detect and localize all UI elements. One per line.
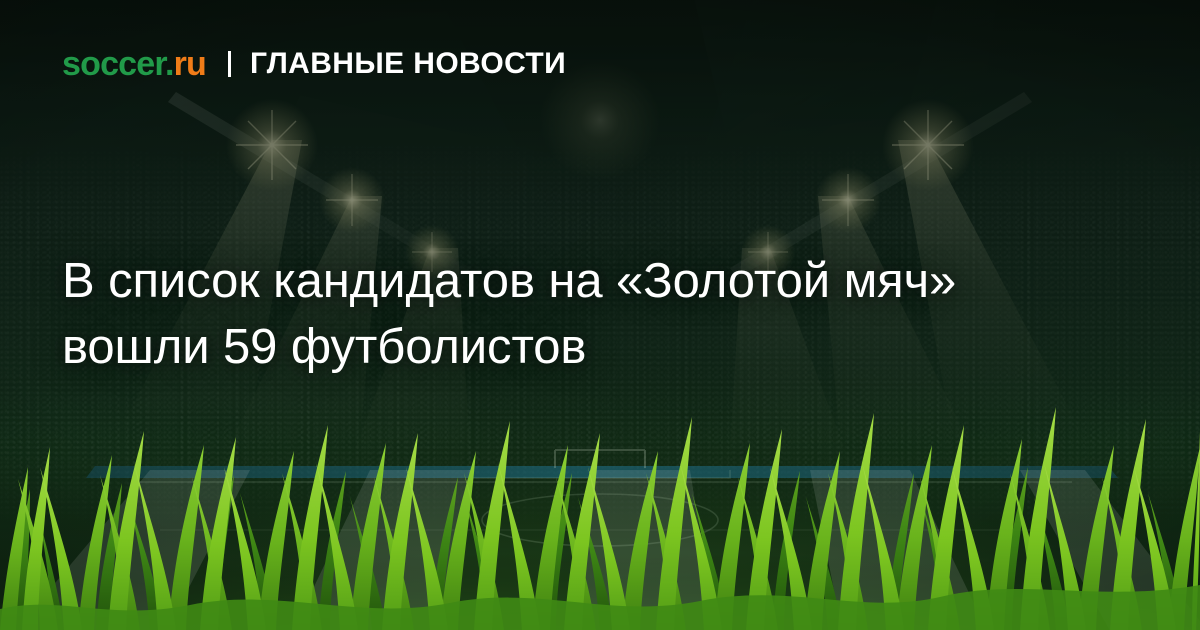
logo-text-tld: ru (174, 45, 206, 83)
page-title: В список кандидатов на «Золотой мяч» вош… (62, 248, 1072, 380)
foreground-grass (0, 371, 1200, 630)
header-separator (228, 51, 231, 77)
logo-dot: . (165, 45, 174, 83)
header: soccer.ru ГЛАВНЫЕ НОВОСТИ (62, 47, 566, 81)
logo-text-primary: soccer (62, 45, 165, 83)
header-kicker: ГЛАВНЫЕ НОВОСТИ (250, 49, 566, 79)
site-logo[interactable]: soccer.ru (62, 47, 206, 81)
news-card: soccer.ru ГЛАВНЫЕ НОВОСТИ В список канди… (0, 0, 1200, 630)
